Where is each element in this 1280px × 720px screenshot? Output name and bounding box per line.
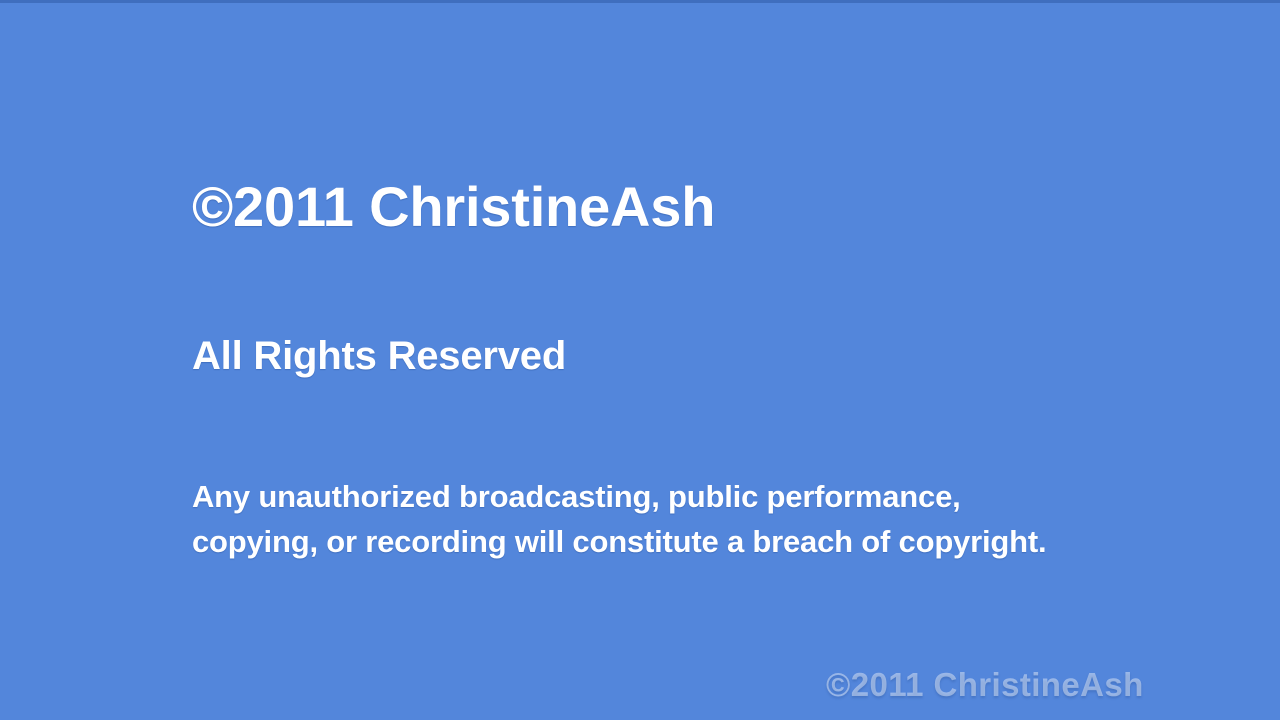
copyright-slide: ©2011 ChristineAsh All Rights Reserved A… [0,0,1280,720]
notice-line-1: Any unauthorized broadcasting, public pe… [192,474,1046,519]
copyright-title: ©2011 ChristineAsh [192,176,715,238]
corner-watermark: ©2011 ChristineAsh [826,666,1144,704]
all-rights-reserved-heading: All Rights Reserved [192,332,566,380]
notice-line-2: copying, or recording will constitute a … [192,519,1046,564]
copyright-notice-paragraph: Any unauthorized broadcasting, public pe… [192,474,1046,564]
slide-content: ©2011 ChristineAsh All Rights Reserved A… [192,0,1232,720]
